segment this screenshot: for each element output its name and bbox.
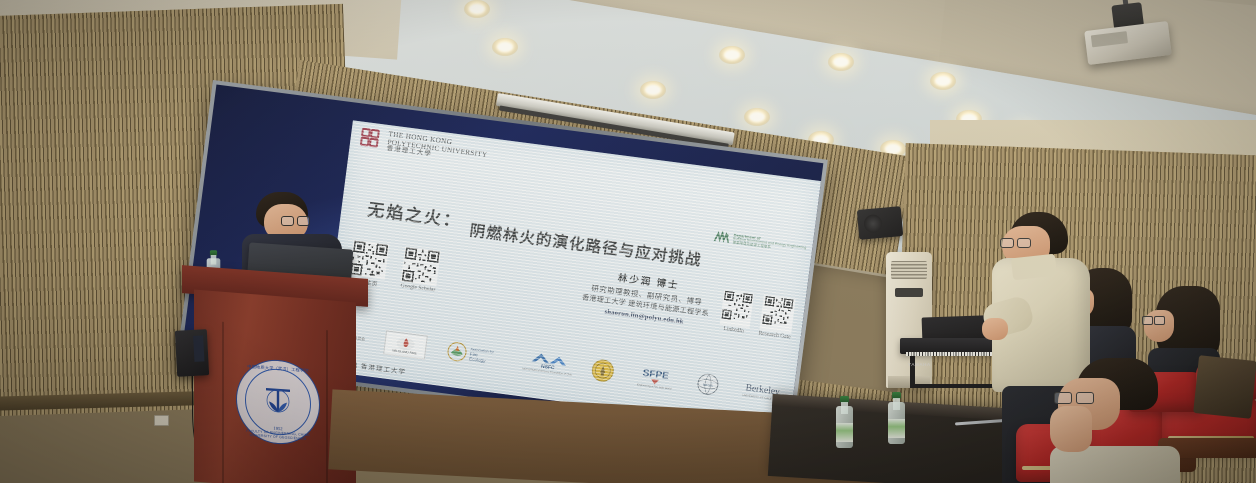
questioner-hand xyxy=(982,318,1008,340)
polyu-logo-icon xyxy=(359,128,384,153)
ceiling-downlight xyxy=(930,72,956,90)
bottle-body xyxy=(888,402,905,444)
questioner-glasses-icon xyxy=(1000,238,1030,247)
projector-vent xyxy=(1091,31,1128,47)
ceiling-downlight xyxy=(719,46,745,64)
bottle-label xyxy=(888,419,905,438)
logo-fire-ecology: Association for Fire Ecology xyxy=(443,339,507,369)
questioner-collar xyxy=(1011,254,1057,280)
water-bottle-2[interactable] xyxy=(888,392,905,444)
podium-seal: 中国地质大学（武汉）工程学院 1952 FACULTY OF ENGINEERI… xyxy=(236,357,320,447)
piano-brand-label: YAMAHA xyxy=(908,362,931,367)
logo-iafss: IAFSS xyxy=(695,372,722,397)
qr-code-google-scholar[interactable] xyxy=(401,246,441,286)
ceiling-downlight xyxy=(744,108,770,126)
ceiling-downlight xyxy=(492,38,518,56)
podium-panel-line xyxy=(222,322,224,483)
person-glasses-icon xyxy=(1142,316,1164,323)
svg-text:WILDLAND FIRE: WILDLAND FIRE xyxy=(392,348,417,355)
ac-grille xyxy=(891,261,927,279)
person-hand xyxy=(1050,406,1092,452)
ceiling-downlight xyxy=(828,53,854,71)
logo-nsfc: NSFC National Natural Science Foundation… xyxy=(522,349,574,377)
bottle-body xyxy=(836,406,853,448)
logo-wildland-fire: WILDLAND FIRE xyxy=(383,330,428,359)
wall-outlet xyxy=(154,415,169,426)
qr-item[interactable]: Google Scholar xyxy=(399,246,440,295)
water-bottle-1[interactable] xyxy=(836,396,853,448)
person-glasses-icon xyxy=(1054,392,1094,403)
qr-item[interactable]: Research Gate xyxy=(758,295,796,341)
logo-gold-seal xyxy=(589,358,616,383)
qr-item[interactable]: LinkedIn xyxy=(718,290,753,336)
wall-speaker-left xyxy=(175,329,209,377)
ceiling-downlight xyxy=(464,0,490,18)
qr-code-linkedin[interactable] xyxy=(719,290,753,329)
qr-code-research-gate[interactable] xyxy=(759,295,796,334)
lecture-hall-scene: THE HONG KONG POLYTECHNIC UNIVERSITY 香港理… xyxy=(0,0,1256,483)
speaker-glasses-icon xyxy=(281,216,309,225)
ac-control-panel[interactable] xyxy=(895,288,923,297)
bottle-label xyxy=(836,423,853,442)
polyu-branding: THE HONG KONG POLYTECHNIC UNIVERSITY 香港理… xyxy=(359,128,488,166)
logo-sfpe: SFPE Engineering a Fire Safe World xyxy=(631,364,679,392)
person-face xyxy=(1144,310,1174,342)
seal-emblem-icon xyxy=(262,383,294,419)
ceiling-downlight xyxy=(640,81,666,99)
seated-man-foreground xyxy=(1040,358,1180,483)
svg-text:Ecology: Ecology xyxy=(469,356,487,363)
podium-panel-line xyxy=(326,330,328,483)
wall-speaker-right xyxy=(857,206,903,240)
rear-wall-fixture xyxy=(1193,355,1256,419)
